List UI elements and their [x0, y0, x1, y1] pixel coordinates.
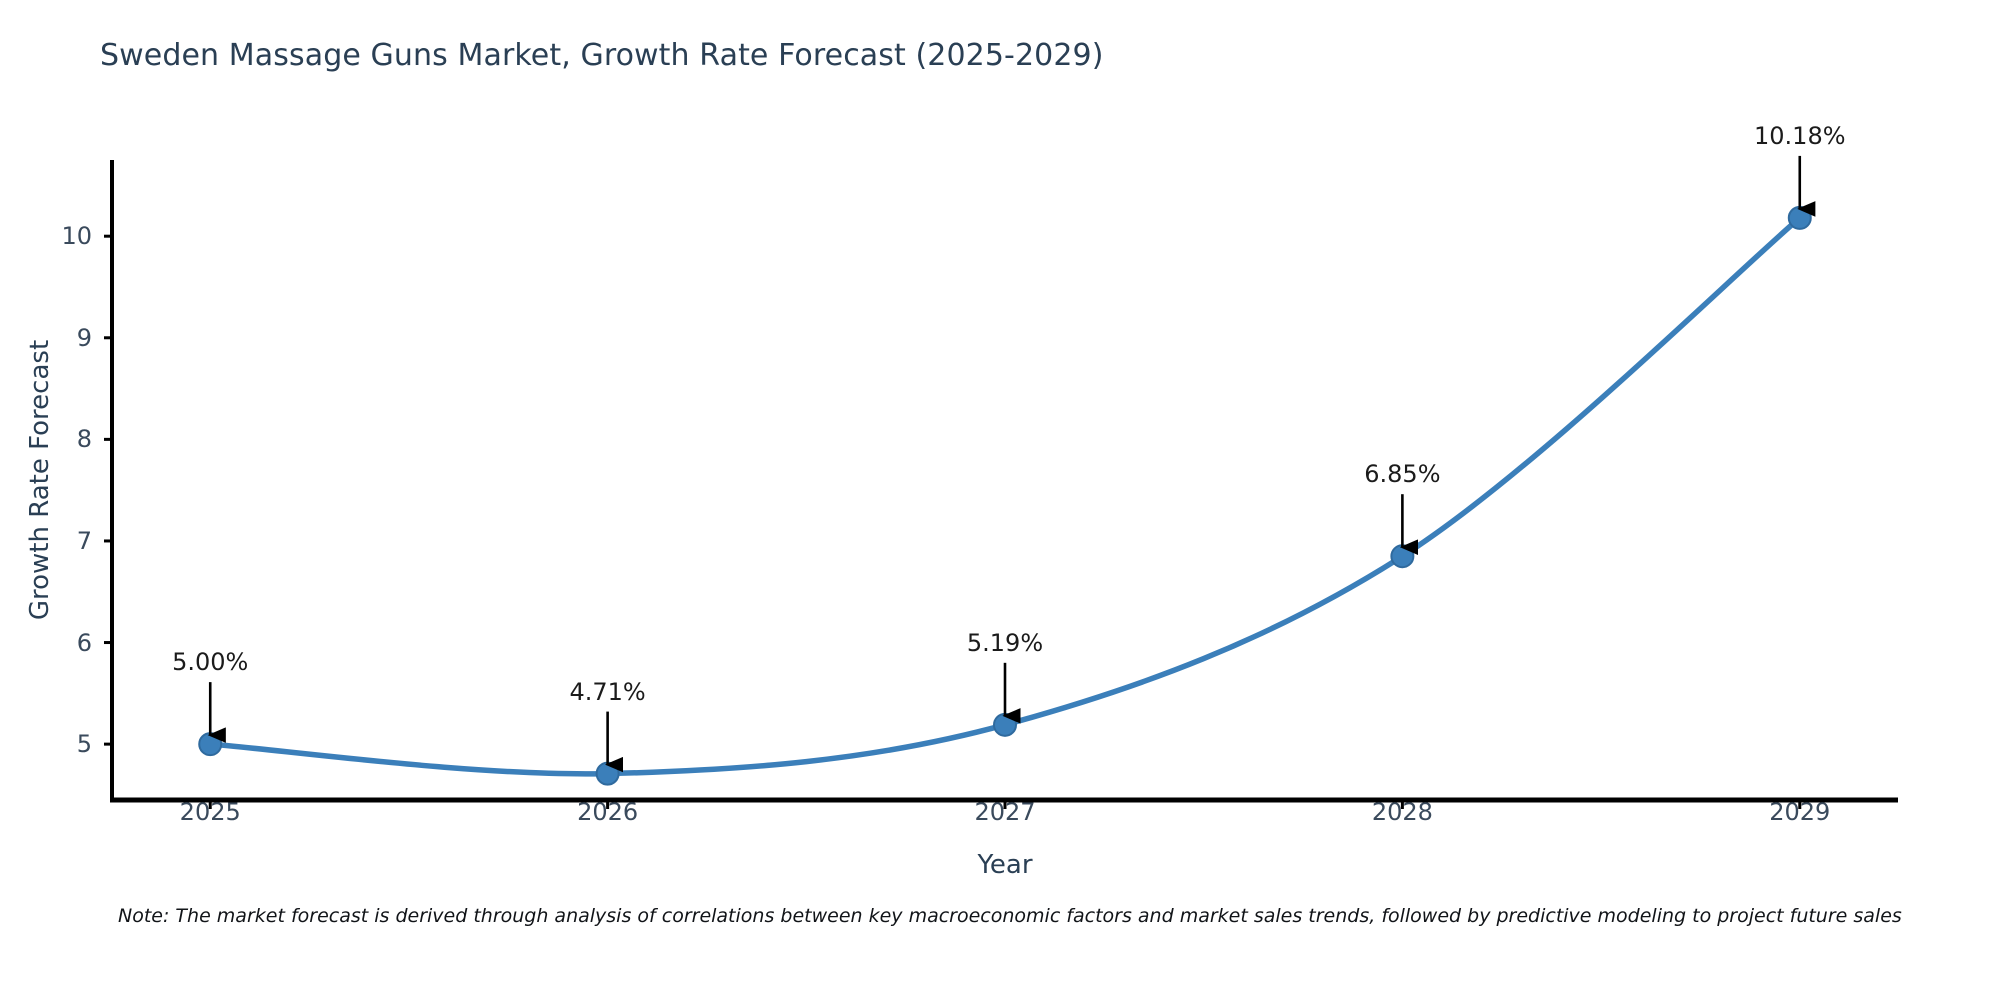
x-tick-label: 2026	[528, 798, 688, 826]
data-point-label: 6.85%	[1302, 460, 1502, 488]
y-tick-label: 5	[22, 730, 92, 758]
data-point-marker[interactable]	[597, 763, 619, 785]
x-tick-label: 2029	[1720, 798, 1880, 826]
y-tick-label: 7	[22, 527, 92, 555]
data-point-label: 5.00%	[110, 648, 310, 676]
x-tick-label: 2027	[925, 798, 1085, 826]
chart-page: Sweden Massage Guns Market, Growth Rate …	[0, 0, 2000, 1000]
footnote: Note: The market forecast is derived thr…	[118, 905, 2000, 927]
data-point-marker[interactable]	[1391, 545, 1413, 567]
y-tick-label: 6	[22, 629, 92, 657]
data-point-label: 4.71%	[508, 678, 708, 706]
y-tick-label: 8	[22, 425, 92, 453]
y-tick-label: 10	[22, 222, 92, 250]
data-point-marker[interactable]	[199, 733, 221, 755]
annotation-arrows	[210, 156, 1800, 765]
data-point-label: 5.19%	[905, 629, 1105, 657]
x-tick-label: 2025	[130, 798, 290, 826]
data-point-marker[interactable]	[994, 714, 1016, 736]
y-tick-label: 9	[22, 324, 92, 352]
data-point-marker[interactable]	[1789, 207, 1811, 229]
x-tick-label: 2028	[1322, 798, 1482, 826]
line-chart-plot	[0, 0, 2000, 1000]
data-point-label: 10.18%	[1700, 122, 1900, 150]
